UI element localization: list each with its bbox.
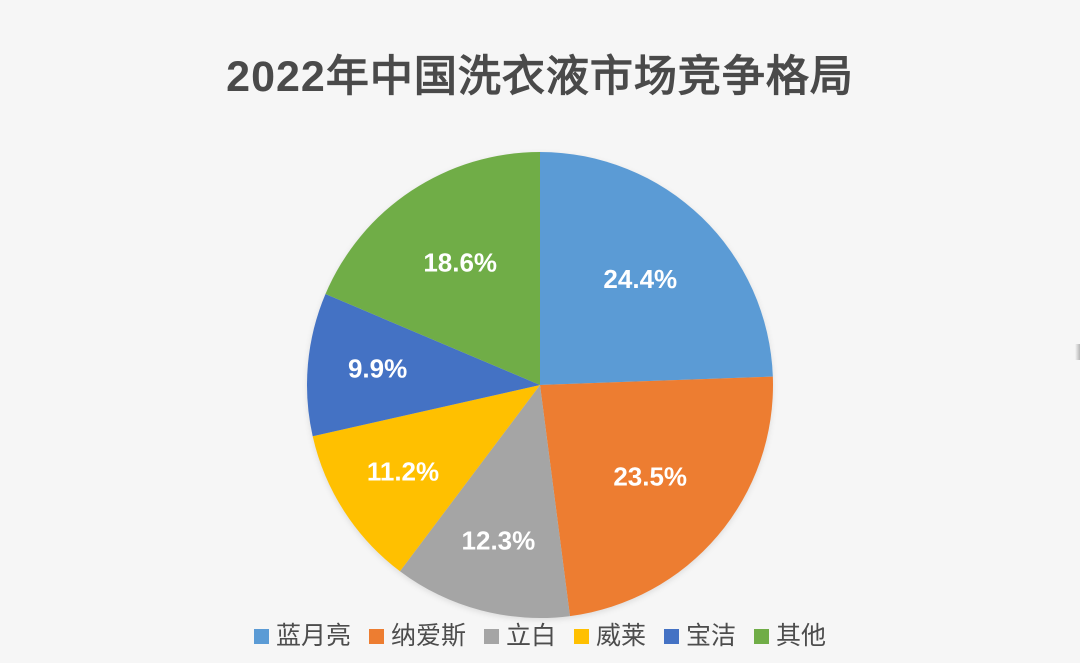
page-title: 2022年中国洗衣液市场竞争格局	[0, 49, 1080, 105]
legend-swatch-icon	[254, 629, 269, 644]
legend-swatch-icon	[754, 629, 769, 644]
legend-item-label: 其他	[776, 622, 826, 650]
pie-chart: 24.4%23.5%12.3%11.2%9.9%18.6%	[305, 150, 775, 620]
pie-slice[interactable]	[540, 377, 773, 616]
legend-item-label: 立白	[506, 622, 556, 650]
chart-page: 2022年中国洗衣液市场竞争格局 24.4%23.5%12.3%11.2%9.9…	[0, 0, 1080, 663]
legend-item-label: 纳爱斯	[391, 622, 466, 650]
legend-swatch-icon	[484, 629, 499, 644]
legend-item-label: 蓝月亮	[276, 622, 351, 650]
pie-slice-group	[307, 152, 773, 618]
legend-item[interactable]: 其他	[754, 622, 826, 650]
pie-slice-value-label: 11.2%	[367, 456, 439, 486]
pie-slice-value-label: 23.5%	[613, 461, 687, 491]
legend-item[interactable]: 威莱	[574, 622, 646, 650]
legend-item-label: 宝洁	[686, 622, 736, 650]
pie-slice-value-label: 18.6%	[423, 247, 497, 277]
pie-slice-value-label: 9.9%	[348, 353, 407, 383]
legend-swatch-icon	[664, 629, 679, 644]
legend-item[interactable]: 蓝月亮	[254, 622, 351, 650]
pie-slice-value-label: 12.3%	[462, 526, 536, 556]
legend-item[interactable]: 纳爱斯	[369, 622, 466, 650]
edge-artifact	[1075, 344, 1080, 360]
legend-swatch-icon	[574, 629, 589, 644]
legend-item[interactable]: 宝洁	[664, 622, 736, 650]
legend-item-label: 威莱	[596, 622, 646, 650]
pie-chart-svg: 24.4%23.5%12.3%11.2%9.9%18.6%	[305, 150, 775, 620]
legend-item[interactable]: 立白	[484, 622, 556, 650]
chart-legend: 蓝月亮纳爱斯立白威莱宝洁其他	[0, 622, 1080, 650]
pie-slice-value-label: 24.4%	[603, 264, 677, 294]
legend-swatch-icon	[369, 629, 384, 644]
